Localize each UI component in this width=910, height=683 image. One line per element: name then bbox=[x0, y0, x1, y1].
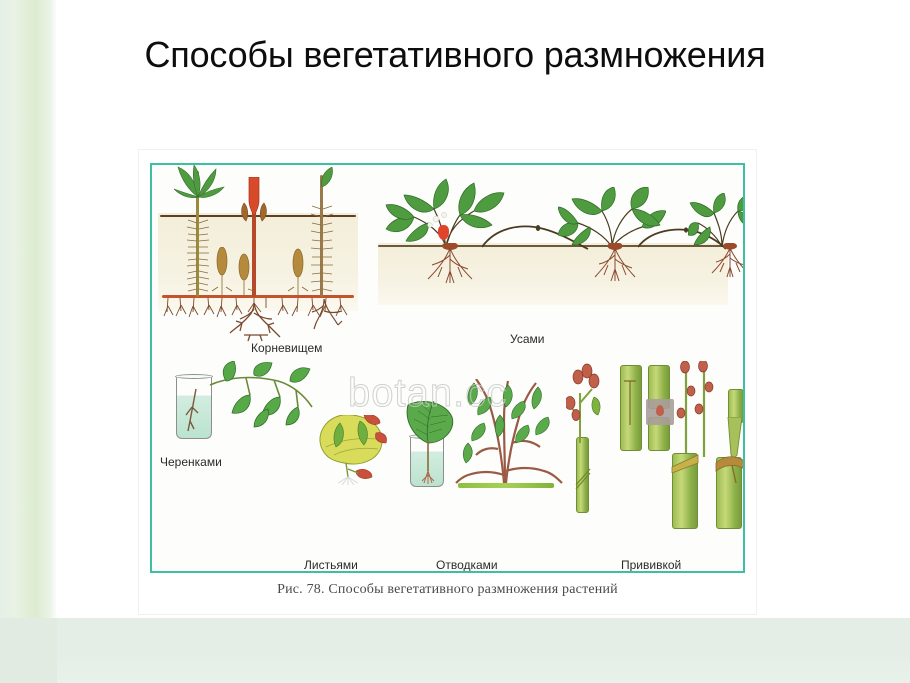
roots-icon bbox=[708, 243, 745, 283]
budded-shoots-icon bbox=[676, 361, 718, 457]
rhizome-buds-icon bbox=[210, 247, 320, 297]
root-mass-icon bbox=[308, 299, 356, 331]
roots-icon bbox=[590, 243, 640, 287]
layering-bush-icon bbox=[448, 379, 570, 485]
figure-label-runners: Усами bbox=[510, 332, 544, 346]
bud-icon bbox=[656, 405, 664, 416]
leaf-propagation-icon bbox=[316, 415, 388, 485]
figure-caption: Рис. 78. Способы вегетативного размножен… bbox=[139, 582, 756, 598]
figure-label-leaves: Листьями bbox=[304, 558, 358, 572]
slant-cut-icon bbox=[670, 453, 700, 473]
figure-label-rhizome: Корневищем bbox=[251, 341, 322, 355]
decorative-left-band bbox=[0, 0, 57, 618]
red-shoot-icon bbox=[240, 177, 270, 225]
figure-frame: botan.cc Корневищем Усами Черенками Лист… bbox=[150, 163, 745, 573]
cleft-graft-icon bbox=[714, 453, 745, 485]
figure-label-layering: Отводками bbox=[436, 558, 498, 572]
figure-label-cuttings: Черенками bbox=[160, 455, 222, 469]
rootlets-icon bbox=[310, 205, 334, 297]
graft-cut-icon bbox=[574, 465, 592, 491]
scion-with-buds-icon bbox=[566, 363, 606, 443]
stem-cutting-in-water-icon bbox=[182, 387, 206, 437]
leafy-branch-icon bbox=[208, 361, 318, 431]
slide-title: Способы вегетативного размножения bbox=[0, 33, 910, 77]
taproot-icon bbox=[224, 303, 312, 343]
leaf-cluster-icon bbox=[172, 165, 228, 199]
figure-card: botan.cc Корневищем Усами Черенками Лист… bbox=[139, 150, 756, 614]
petiole-roots-icon bbox=[420, 441, 436, 485]
decorative-bottom-left-corner bbox=[0, 618, 57, 683]
figure-label-grafting: Прививкой bbox=[621, 558, 681, 572]
rootlets-icon bbox=[186, 219, 210, 295]
decorative-bottom-band bbox=[0, 618, 910, 683]
roots-icon bbox=[422, 243, 478, 289]
t-cut-icon bbox=[622, 379, 640, 429]
strawberry-plant-icon bbox=[688, 193, 745, 247]
slide: Способы вегетативного размножения bbox=[0, 0, 910, 683]
single-leaf-icon bbox=[316, 167, 336, 187]
